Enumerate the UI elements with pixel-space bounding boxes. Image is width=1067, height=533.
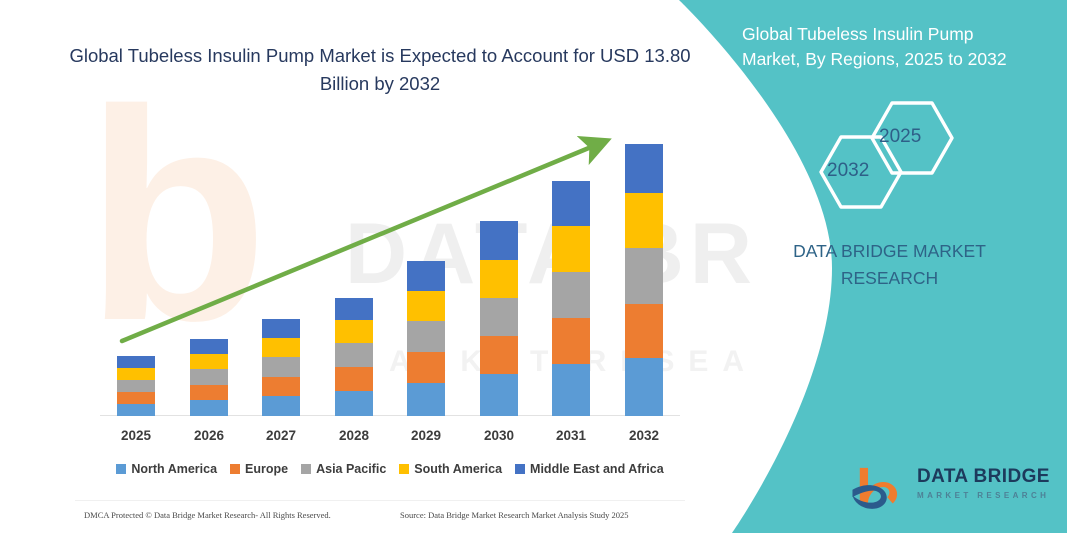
- bar-segment: [262, 377, 300, 396]
- bar-segment: [262, 396, 300, 416]
- bar-2028[interactable]: [335, 298, 373, 416]
- infographic-root: b DATA BRIDGE MARKET RESEARCH Global Tub…: [0, 0, 1067, 533]
- legend-item-middle-east-and-africa[interactable]: Middle East and Africa: [515, 462, 664, 476]
- bar-segment: [407, 352, 445, 383]
- legend-label: South America: [414, 462, 502, 476]
- source-notice: Source: Data Bridge Market Research Mark…: [400, 510, 629, 520]
- bar-segment: [552, 364, 590, 416]
- hexagon-2032-label: 2032: [827, 160, 869, 182]
- bar-segment: [480, 336, 518, 374]
- copyright-notice: DMCA Protected © Data Bridge Market Rese…: [84, 510, 331, 520]
- x-axis-label-2027: 2027: [251, 428, 311, 443]
- bar-segment: [480, 260, 518, 298]
- x-axis-label-2028: 2028: [324, 428, 384, 443]
- bar-segment: [262, 319, 300, 338]
- bar-2029[interactable]: [407, 261, 445, 416]
- x-axis-label-2026: 2026: [179, 428, 239, 443]
- bar-segment: [190, 369, 228, 385]
- brand-name: DATA BRIDGE MARKET RESEARCH: [757, 238, 1022, 292]
- bar-segment: [407, 291, 445, 321]
- bar-segment: [552, 272, 590, 318]
- bar-segment: [262, 338, 300, 357]
- chart-legend: North AmericaEuropeAsia PacificSouth Ame…: [100, 459, 680, 479]
- data-bridge-logo: DATA BRIDGE MARKET RESEARCH: [847, 462, 1047, 518]
- bar-2030[interactable]: [480, 221, 518, 416]
- bar-segment: [407, 261, 445, 291]
- bar-segment: [335, 367, 373, 391]
- bar-segment: [117, 356, 155, 368]
- bar-segment: [335, 298, 373, 320]
- legend-label: Asia Pacific: [316, 462, 386, 476]
- bar-segment: [117, 404, 155, 416]
- bar-segment: [262, 357, 300, 377]
- bar-2027[interactable]: [262, 319, 300, 416]
- footer-divider: [75, 500, 685, 501]
- chart-area: 20252026202720282029203020312032 North A…: [0, 0, 760, 533]
- bar-segment: [552, 318, 590, 364]
- legend-item-south-america[interactable]: South America: [399, 462, 502, 476]
- legend-item-north-america[interactable]: North America: [116, 462, 217, 476]
- bar-segment: [190, 354, 228, 369]
- x-axis-label-2029: 2029: [396, 428, 456, 443]
- x-axis-label-2030: 2030: [469, 428, 529, 443]
- legend-label: Europe: [245, 462, 288, 476]
- bar-segment: [335, 391, 373, 416]
- legend-item-europe[interactable]: Europe: [230, 462, 288, 476]
- bar-segment: [407, 383, 445, 416]
- legend-swatch-icon: [301, 464, 311, 474]
- bar-2026[interactable]: [190, 339, 228, 416]
- bar-segment: [190, 400, 228, 416]
- bar-2025[interactable]: [117, 356, 155, 416]
- stacked-bar-plot: [100, 120, 680, 416]
- brand-panel: Global Tubeless Insulin Pump Market, By …: [647, 0, 1067, 533]
- x-axis-label-2025: 2025: [106, 428, 166, 443]
- legend-swatch-icon: [116, 464, 126, 474]
- bar-segment: [552, 226, 590, 272]
- bar-segment: [480, 298, 518, 336]
- legend-swatch-icon: [399, 464, 409, 474]
- bar-segment: [117, 368, 155, 380]
- bar-segment: [480, 221, 518, 260]
- hexagon-2025-label: 2025: [879, 126, 921, 148]
- bar-segment: [335, 320, 373, 343]
- bar-segment: [480, 374, 518, 416]
- legend-item-asia-pacific[interactable]: Asia Pacific: [301, 462, 386, 476]
- logo-secondary-text: MARKET RESEARCH: [917, 491, 1050, 500]
- bar-segment: [190, 385, 228, 400]
- legend-label: North America: [131, 462, 217, 476]
- x-axis-labels: 20252026202720282029203020312032: [100, 428, 680, 448]
- bar-segment: [117, 380, 155, 392]
- bar-2031[interactable]: [552, 181, 590, 416]
- bar-segment: [190, 339, 228, 354]
- bar-segment: [552, 181, 590, 226]
- legend-label: Middle East and Africa: [530, 462, 664, 476]
- logo-primary-text: DATA BRIDGE: [917, 466, 1050, 488]
- legend-swatch-icon: [230, 464, 240, 474]
- x-axis-label-2031: 2031: [541, 428, 601, 443]
- bar-segment: [335, 343, 373, 367]
- logo-mark-icon: [847, 462, 911, 514]
- bar-segment: [407, 321, 445, 352]
- legend-swatch-icon: [515, 464, 525, 474]
- bar-segment: [117, 392, 155, 404]
